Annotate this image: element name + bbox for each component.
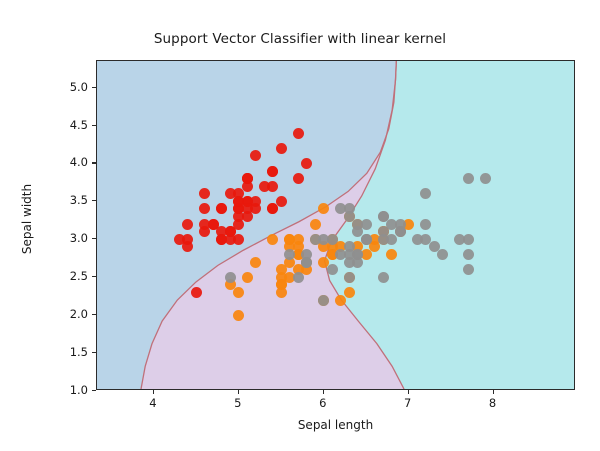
y-tick-label: 1.0 [18, 383, 88, 397]
y-tick-mark [92, 276, 96, 277]
scatter-point-class_0 [216, 203, 227, 214]
scatter-points [97, 61, 574, 389]
x-tick-mark [493, 390, 494, 394]
x-tick-label: 6 [303, 396, 343, 410]
scatter-point-class_2 [437, 249, 448, 260]
scatter-point-class_0 [276, 196, 287, 207]
y-tick-mark [92, 87, 96, 88]
scatter-point-class_0 [250, 150, 261, 161]
scatter-point-class_2 [378, 234, 389, 245]
y-tick-label: 5.0 [18, 80, 88, 94]
y-tick-mark [92, 125, 96, 126]
scatter-point-class_2 [386, 219, 397, 230]
scatter-point-class_2 [301, 257, 312, 268]
y-tick-mark [92, 390, 96, 391]
scatter-point-class_0 [301, 158, 312, 169]
x-tick-label: 4 [133, 396, 173, 410]
plot-axes [96, 60, 575, 390]
x-tick-label: 5 [218, 396, 258, 410]
x-tick-mark [408, 390, 409, 394]
scatter-point-class_1 [344, 287, 355, 298]
scatter-point-class_0 [276, 143, 287, 154]
x-tick-mark [323, 390, 324, 394]
scatter-point-class_2 [327, 264, 338, 275]
scatter-point-class_0 [191, 287, 202, 298]
y-tick-mark [92, 314, 96, 315]
scatter-point-class_2 [463, 234, 474, 245]
scatter-point-class_2 [463, 173, 474, 184]
scatter-point-class_2 [310, 234, 321, 245]
scatter-point-class_2 [420, 219, 431, 230]
scatter-point-class_1 [233, 310, 244, 321]
scatter-point-class_1 [250, 257, 261, 268]
scatter-point-class_2 [361, 234, 372, 245]
scatter-point-class_0 [293, 173, 304, 184]
y-tick-mark [92, 352, 96, 353]
scatter-point-class_2 [420, 188, 431, 199]
scatter-point-class_0 [199, 203, 210, 214]
scatter-point-class_2 [480, 173, 491, 184]
scatter-point-class_0 [199, 219, 210, 230]
scatter-point-class_1 [242, 272, 253, 283]
y-tick-label: 2.0 [18, 307, 88, 321]
chart-title: Support Vector Classifier with linear ke… [0, 31, 600, 47]
scatter-point-class_0 [267, 166, 278, 177]
scatter-point-class_1 [267, 234, 278, 245]
scatter-point-class_0 [293, 128, 304, 139]
x-tick-mark [153, 390, 154, 394]
scatter-point-class_1 [318, 203, 329, 214]
scatter-point-class_2 [318, 295, 329, 306]
scatter-point-class_2 [420, 234, 431, 245]
x-axis-label: Sepal length [96, 418, 575, 432]
scatter-point-class_2 [378, 272, 389, 283]
scatter-point-class_1 [233, 287, 244, 298]
matplotlib-figure: Support Vector Classifier with linear ke… [0, 0, 600, 451]
scatter-point-class_2 [344, 272, 355, 283]
y-tick-mark [92, 238, 96, 239]
x-tick-mark [238, 390, 239, 394]
x-tick-label: 8 [473, 396, 513, 410]
scatter-point-class_2 [395, 226, 406, 237]
scatter-point-class_0 [259, 181, 270, 192]
x-tick-label: 7 [388, 396, 428, 410]
scatter-point-class_2 [293, 272, 304, 283]
scatter-point-class_2 [225, 272, 236, 283]
scatter-point-class_1 [310, 219, 321, 230]
scatter-point-class_1 [386, 249, 397, 260]
y-tick-label: 1.5 [18, 345, 88, 359]
scatter-point-class_2 [463, 264, 474, 275]
scatter-point-class_0 [199, 188, 210, 199]
scatter-point-class_2 [378, 211, 389, 222]
scatter-point-class_2 [463, 249, 474, 260]
scatter-point-class_0 [182, 219, 193, 230]
y-tick-mark [92, 162, 96, 163]
scatter-point-class_2 [344, 249, 355, 260]
scatter-point-class_0 [242, 173, 253, 184]
y-tick-mark [92, 200, 96, 201]
y-axis-label: Sepal width [20, 129, 34, 309]
scatter-point-class_0 [233, 234, 244, 245]
